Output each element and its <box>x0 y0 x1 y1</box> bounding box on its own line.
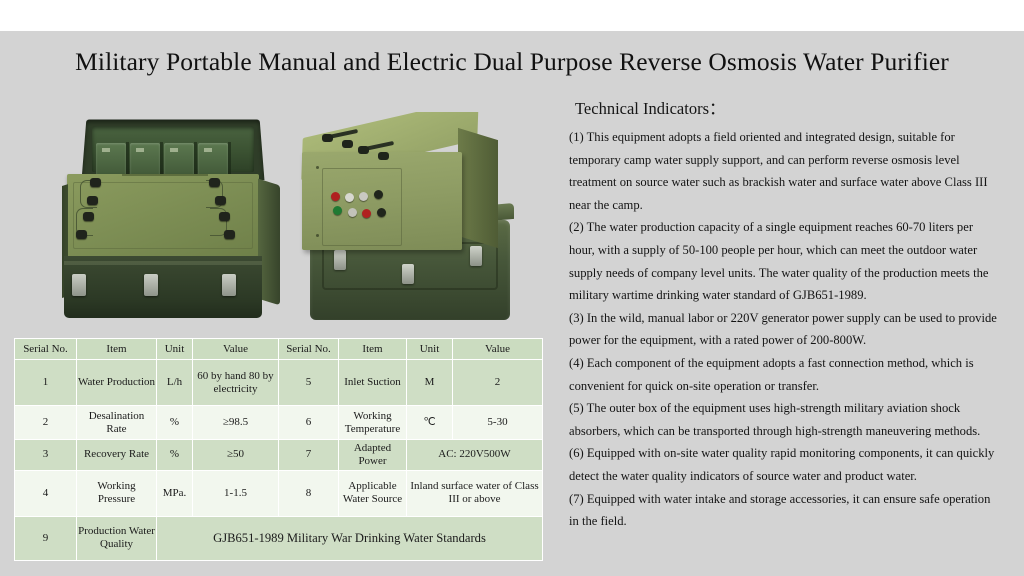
cell-serial: 9 <box>15 516 77 560</box>
column-header-value-left: Value <box>193 339 279 360</box>
panel-screw <box>316 234 319 237</box>
handle-mount <box>322 134 333 142</box>
cell-unit: % <box>157 440 193 471</box>
table-row: 4 Working Pressure MPa. 1-1.5 8 Applicab… <box>15 470 543 516</box>
column-header-item-right: Item <box>339 339 407 360</box>
table-row: 3 Recovery Rate % ≥50 7 Adapted Power AC… <box>15 440 543 471</box>
latch-knob <box>76 230 87 239</box>
case-clasp <box>222 274 236 296</box>
cell-standard-value: GJB651-1989 Military War Drinking Water … <box>157 516 543 560</box>
column-header-value-right: Value <box>453 339 543 360</box>
indicator-lamp-white[interactable] <box>345 193 354 202</box>
table-row: 2 Desalination Rate % ≥98.5 6 Working Te… <box>15 406 543 440</box>
cell-item: Applicable Water Source <box>339 470 407 516</box>
case-clasp <box>144 274 158 296</box>
panel-seam <box>122 174 208 176</box>
control-switch[interactable] <box>377 208 386 217</box>
indicator-lamp-white[interactable] <box>348 208 357 217</box>
technical-paragraph-4: (4) Each component of the equipment adop… <box>569 352 997 397</box>
cell-unit: L/h <box>157 360 193 406</box>
cell-item: Inlet Suction <box>339 360 407 406</box>
technical-paragraph-7: (7) Equipped with water intake and stora… <box>569 488 997 533</box>
cell-item: Production Water Quality <box>77 516 157 560</box>
cell-value: ≥98.5 <box>193 406 279 440</box>
product-photo-stacked-unit <box>292 112 530 320</box>
cell-item: Water Production <box>77 360 157 406</box>
cell-unit: M <box>407 360 453 406</box>
case-clasp <box>470 246 482 266</box>
cell-unit: ℃ <box>407 406 453 440</box>
latch-knob <box>90 178 101 187</box>
latch-knob <box>219 212 230 221</box>
case-inner-tray <box>92 126 254 172</box>
column-header-serial-left: Serial No. <box>15 339 77 360</box>
cell-unit: MPa. <box>157 470 193 516</box>
latch-knob <box>209 178 220 187</box>
unit-front-face <box>302 152 462 250</box>
latch-knob <box>215 196 226 205</box>
cell-serial: 8 <box>279 470 339 516</box>
case-clasp <box>72 274 86 296</box>
column-header-unit-right: Unit <box>407 339 453 360</box>
case-clasp <box>402 264 414 284</box>
indicator-lamp-red[interactable] <box>362 209 371 218</box>
handle-mount <box>358 146 369 154</box>
technical-paragraph-2: (2) The water production capacity of a s… <box>569 216 997 306</box>
cell-serial: 4 <box>15 470 77 516</box>
handle-mount <box>342 140 353 148</box>
table-row-final: 9 Production Water Quality GJB651-1989 M… <box>15 516 543 560</box>
column-header-unit-left: Unit <box>157 339 193 360</box>
cell-value: 5-30 <box>453 406 543 440</box>
column-header-item-left: Item <box>77 339 157 360</box>
cell-value: ≥50 <box>193 440 279 471</box>
cell-serial: 3 <box>15 440 77 471</box>
unit-right-face <box>458 128 498 248</box>
cell-serial: 5 <box>279 360 339 406</box>
case-clasp <box>334 250 346 270</box>
technical-paragraph-6: (6) Equipped with on-site water quality … <box>569 442 997 487</box>
cell-item: Desalination Rate <box>77 406 157 440</box>
cell-item: Recovery Rate <box>77 440 157 471</box>
technical-paragraph-1: (1) This equipment adopts a field orient… <box>569 126 997 216</box>
cell-value: 1-1.5 <box>193 470 279 516</box>
control-switch[interactable] <box>374 190 383 199</box>
cell-value-merged: Inland surface water of Class III or abo… <box>407 470 543 516</box>
cell-value-merged: AC: 220V500W <box>407 440 543 471</box>
case-lower-body <box>64 256 262 318</box>
technical-indicators-block: Technical Indicators： (1) This equipment… <box>569 95 997 533</box>
cell-item: Working Temperature <box>339 406 407 440</box>
latch-knob <box>83 212 94 221</box>
cell-serial: 7 <box>279 440 339 471</box>
technical-paragraph-3: (3) In the wild, manual labor or 220V ge… <box>569 307 997 352</box>
cell-serial: 2 <box>15 406 77 440</box>
indicator-lamp-red[interactable] <box>331 192 340 201</box>
page-title: Military Portable Manual and Electric Du… <box>0 47 1024 77</box>
technical-indicators-heading: Technical Indicators： <box>569 95 997 119</box>
product-photo-open-case <box>62 112 290 320</box>
cell-value: 2 <box>453 360 543 406</box>
handle-mount <box>378 152 389 160</box>
indicator-lamp-green[interactable] <box>333 206 342 215</box>
latch-knob <box>224 230 235 239</box>
cell-serial: 6 <box>279 406 339 440</box>
table-header-row: Serial No. Item Unit Value Serial No. It… <box>15 339 543 360</box>
cell-value: 60 by hand 80 by electricity <box>193 360 279 406</box>
latch-knob <box>87 196 98 205</box>
cell-item: Working Pressure <box>77 470 157 516</box>
cell-unit: % <box>157 406 193 440</box>
specification-table: Serial No. Item Unit Value Serial No. It… <box>14 338 543 561</box>
table-row: 1 Water Production L/h 60 by hand 80 by … <box>15 360 543 406</box>
cell-serial: 1 <box>15 360 77 406</box>
column-header-serial-right: Serial No. <box>279 339 339 360</box>
slide-root: Military Portable Manual and Electric Du… <box>0 0 1024 576</box>
technical-paragraph-5: (5) The outer box of the equipment uses … <box>569 397 997 442</box>
panel-screw <box>316 166 319 169</box>
indicator-lamp-white[interactable] <box>359 192 368 201</box>
cell-item: Adapted Power <box>339 440 407 471</box>
